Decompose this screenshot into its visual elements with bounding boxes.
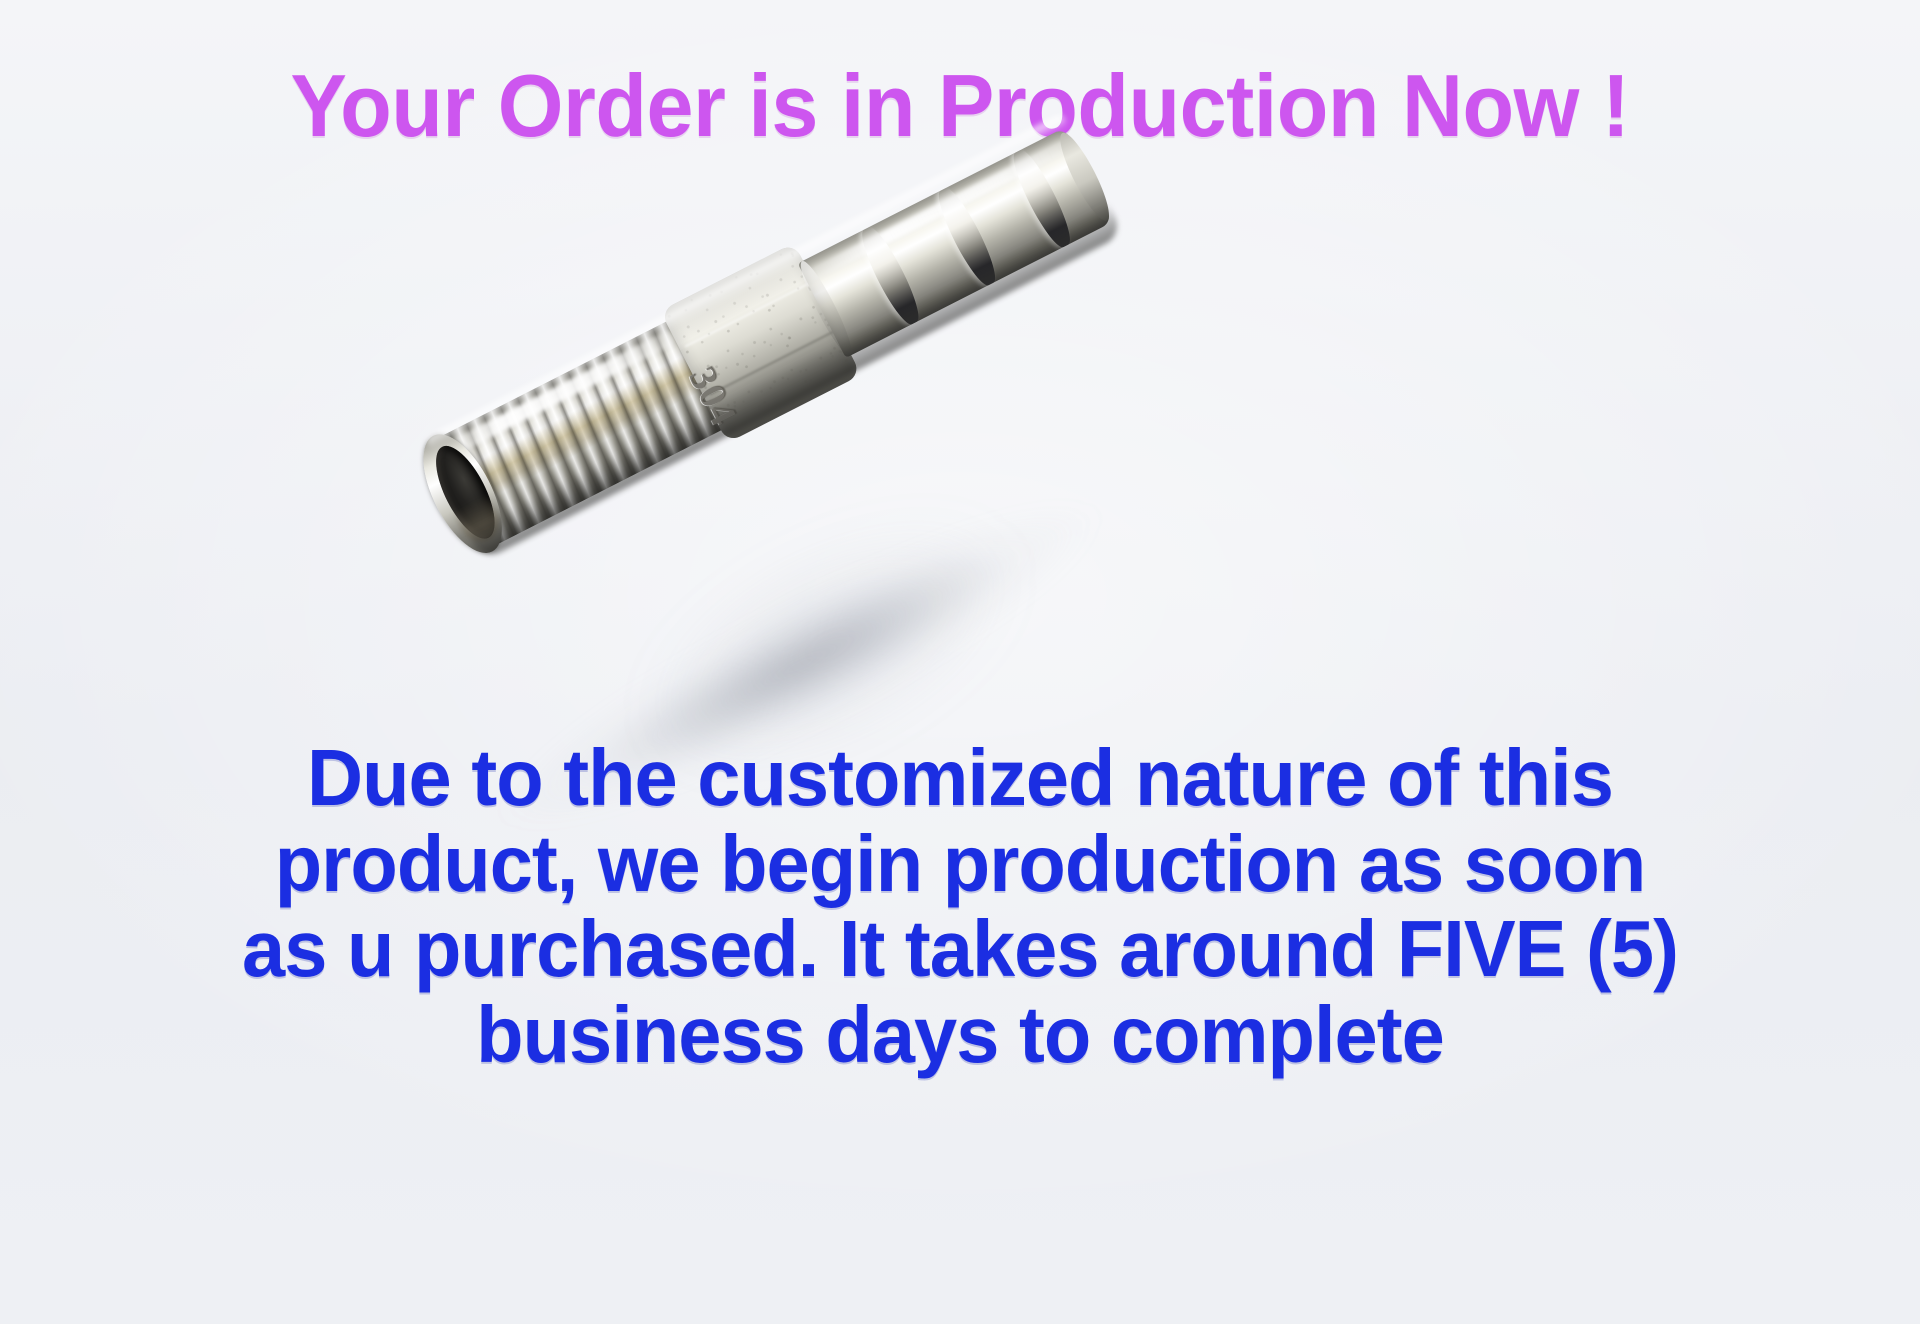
page-title: Your Order is in Production Now ! — [38, 62, 1881, 150]
notice-line-4: business days to complete — [169, 992, 1750, 1078]
product-photo: 304 — [430, 270, 1190, 790]
notice-line-3: as u purchased. It takes around FIVE (5) — [169, 906, 1750, 992]
production-notice-text: Due to the customized nature of this pro… — [169, 735, 1750, 1077]
screenshot-canvas: Your Order is in Production Now ! 304 — [0, 0, 1920, 1324]
notice-line-2: product, we begin production as soon — [169, 821, 1750, 907]
notice-line-1: Due to the customized nature of this — [169, 735, 1750, 821]
